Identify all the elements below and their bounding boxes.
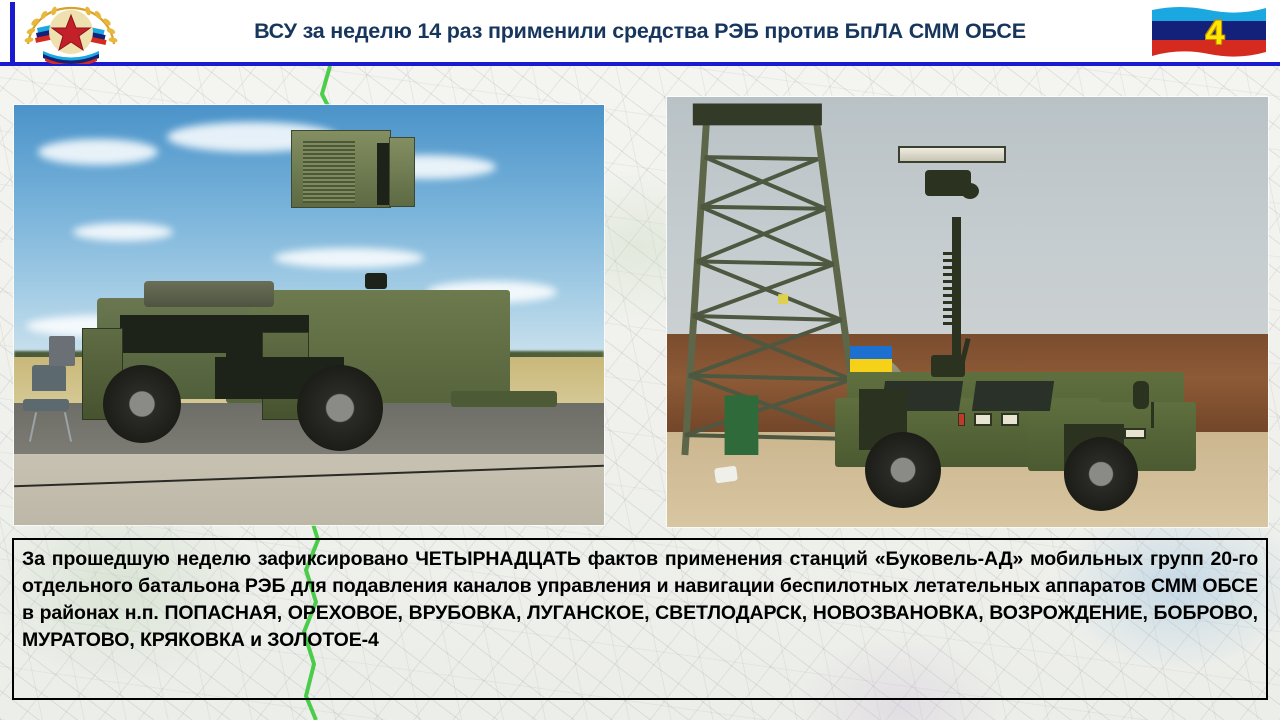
slide-number: 4 [1150, 4, 1268, 62]
roof-tarp [144, 281, 274, 306]
headlight-left [974, 413, 992, 426]
slide-header: ВСУ за неделю 14 раз применили средства … [0, 0, 1280, 66]
side-mirror [1133, 381, 1149, 409]
slide-title: ВСУ за неделю 14 раз применили средства … [150, 0, 1130, 62]
photo-ew-pickup [14, 105, 604, 525]
lpr-flag-icon: 4 [1150, 4, 1268, 62]
slide-canvas: ВСУ за неделю 14 раз применили средства … [0, 0, 1280, 720]
folding-chair-back [32, 365, 66, 391]
wheel-rear [297, 365, 383, 451]
folding-chair-seat [23, 399, 69, 411]
body-text-box: За прошедшую неделю зафиксировано ЧЕТЫРН… [12, 538, 1268, 700]
radar-antenna-panel [898, 146, 1006, 163]
wheel-front [1064, 437, 1138, 511]
windshield [120, 315, 238, 353]
ukrainian-flag-icon [850, 346, 892, 372]
ew-antenna-side-panel [389, 137, 415, 207]
headlight-front [1124, 428, 1146, 439]
antenna-rotator [365, 273, 387, 289]
cloud [274, 248, 424, 268]
windshield-right [971, 381, 1053, 411]
headlight-right [1001, 413, 1019, 426]
debris [714, 465, 738, 483]
cloud [73, 223, 173, 241]
lpr-coat-of-arms-icon [10, 2, 122, 64]
mirror-arm [1151, 402, 1154, 428]
photo-ew-armored-vehicle [667, 97, 1268, 527]
cloud [38, 139, 158, 165]
rear-bumper [451, 391, 557, 408]
weapon-mount [931, 355, 965, 377]
wheel-front [103, 365, 181, 443]
ew-antenna-grill [303, 141, 355, 203]
marker-light [958, 413, 965, 426]
equipment-case [49, 336, 75, 366]
body-text: За прошедшую неделю зафиксировано ЧЕТЫРН… [22, 546, 1258, 654]
mast-cable-coil [943, 252, 959, 329]
antenna-gap [377, 143, 389, 205]
